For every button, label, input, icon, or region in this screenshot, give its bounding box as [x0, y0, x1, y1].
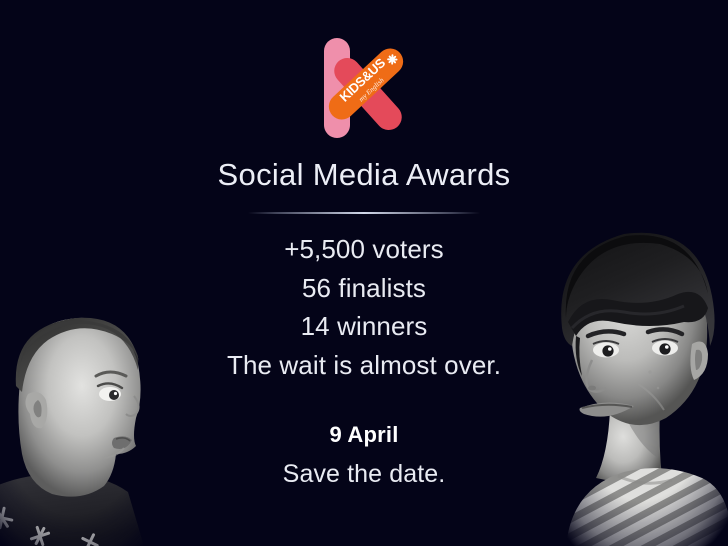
page-title: Social Media Awards [218, 158, 511, 192]
stat-voters: +5,500 voters [284, 230, 444, 268]
stat-teaser-text: The wait is almost over. [227, 346, 501, 384]
stat-finalists: 56 finalists [302, 269, 426, 307]
event-date: 9 April [329, 422, 398, 448]
stats-list: +5,500 voters 56 finalists 14 winners Th… [227, 230, 501, 384]
logo-container: KIDS&US my English [0, 32, 728, 144]
stat-winners: 14 winners [301, 307, 428, 345]
kids-and-us-logo: KIDS&US my English [316, 32, 412, 144]
poster-content: Social Media Awards +5,500 voters 56 fin… [0, 158, 728, 489]
title-divider [248, 212, 480, 214]
date-block: 9 April Save the date. [283, 422, 446, 489]
save-the-date-text: Save the date. [283, 460, 446, 489]
social-media-awards-poster: KIDS&US my English Social Media Awards [0, 0, 728, 546]
